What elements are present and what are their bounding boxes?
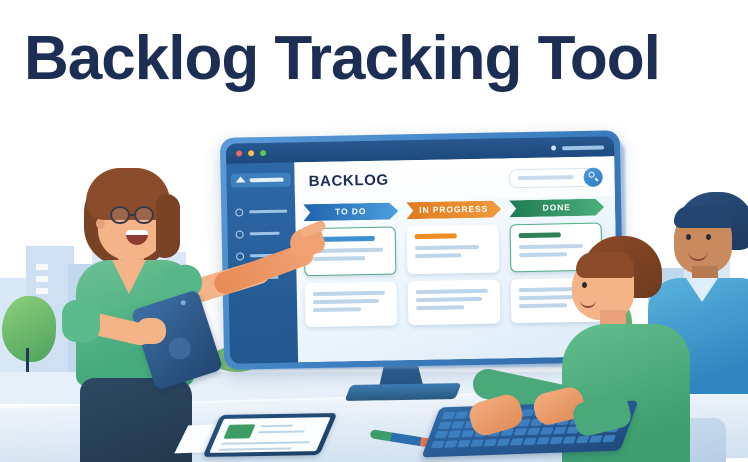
card-accent-bar <box>519 232 561 238</box>
search-input[interactable] <box>508 168 602 189</box>
keyboard-key <box>435 431 449 438</box>
keyboard-key <box>540 427 554 434</box>
glasses-icon <box>110 206 130 224</box>
maximize-dot-icon[interactable] <box>260 150 266 156</box>
card-text-line <box>416 289 488 294</box>
keyboard-key <box>527 428 541 435</box>
search-icon <box>589 172 595 178</box>
kanban-column-inprogress: IN PROGRESS <box>406 200 501 219</box>
search-placeholder-line <box>518 175 574 180</box>
backlog-heading: BACKLOG <box>309 172 389 191</box>
tablet-glare <box>166 335 194 363</box>
keyboard-key <box>431 440 445 447</box>
eye <box>706 234 711 240</box>
search-icon-handle <box>595 177 599 181</box>
keyboard-key <box>455 411 469 418</box>
sidebar-item-label <box>249 210 287 214</box>
keyboard-key <box>461 430 475 437</box>
hair-front <box>674 206 732 228</box>
card-text-line <box>313 291 385 296</box>
close-dot-icon[interactable] <box>236 150 242 156</box>
keyboard-key <box>514 428 528 435</box>
checklist-line <box>258 430 305 433</box>
left-sleeve <box>62 300 100 342</box>
hair-front <box>576 252 634 278</box>
keyboard-key <box>438 421 452 428</box>
card-text-line <box>313 307 361 311</box>
kanban-card[interactable] <box>305 281 398 327</box>
sidebar-item-label <box>250 232 280 236</box>
keyboard-key <box>553 427 567 434</box>
keyboard-key <box>471 439 485 446</box>
teeth <box>126 230 148 235</box>
clipboard-sheet <box>209 417 330 453</box>
titlebar-status-dot-icon <box>551 145 556 150</box>
keyboard-key <box>457 439 471 446</box>
checklist-line <box>260 425 293 428</box>
keyboard-key <box>497 438 511 445</box>
kanban-card[interactable] <box>408 280 501 326</box>
camera-icon <box>180 300 186 306</box>
keyboard-key <box>563 436 577 443</box>
app-header: BACKLOG <box>294 156 615 202</box>
card-accent-bar <box>415 233 457 239</box>
monitor-stand <box>345 383 462 401</box>
glasses-bridge <box>130 214 136 216</box>
keyboard-key <box>602 434 616 441</box>
kanban-column-todo: TO DO <box>303 202 398 221</box>
keyboard-key <box>442 412 456 419</box>
kanban-column-done: DONE <box>509 198 604 217</box>
card-text-line <box>313 299 379 304</box>
column-header-inprogress[interactable]: IN PROGRESS <box>406 200 501 219</box>
keyboard-key <box>589 435 603 442</box>
keyboard-key <box>550 436 564 443</box>
card-text-line <box>416 297 482 302</box>
card-text-line <box>415 245 479 250</box>
checklist-line <box>218 448 292 452</box>
card-text-line <box>313 256 365 260</box>
titlebar-progress-bar <box>562 145 604 150</box>
checklist-line <box>221 441 311 445</box>
keyboard-key <box>523 437 537 444</box>
eye <box>582 282 587 288</box>
column-header-done[interactable]: DONE <box>509 198 604 217</box>
keyboard-key <box>444 440 458 447</box>
card-text-line <box>415 253 461 257</box>
column-header-todo[interactable]: TO DO <box>303 202 398 221</box>
glasses-icon <box>134 206 154 224</box>
sidebar-item-label <box>250 178 284 183</box>
keyboard-key <box>521 409 535 416</box>
minimize-dot-icon[interactable] <box>248 150 254 156</box>
keyboard-key <box>451 421 465 428</box>
left-hand <box>136 318 166 344</box>
keyboard-key <box>448 430 462 437</box>
keyboard-key <box>576 435 590 442</box>
illustration-banner: Backlog Tracking Tool <box>0 0 748 462</box>
checklist-badge <box>223 424 255 438</box>
keyboard-key <box>536 437 550 444</box>
hair-side <box>156 194 180 258</box>
kanban-card[interactable] <box>407 225 500 275</box>
keyboard-key <box>484 439 498 446</box>
search-button[interactable] <box>583 168 602 187</box>
page-title: Backlog Tracking Tool <box>24 26 724 91</box>
tablet-clipboard <box>203 413 338 457</box>
card-text-line <box>416 305 464 309</box>
keyboard-key <box>510 438 524 445</box>
